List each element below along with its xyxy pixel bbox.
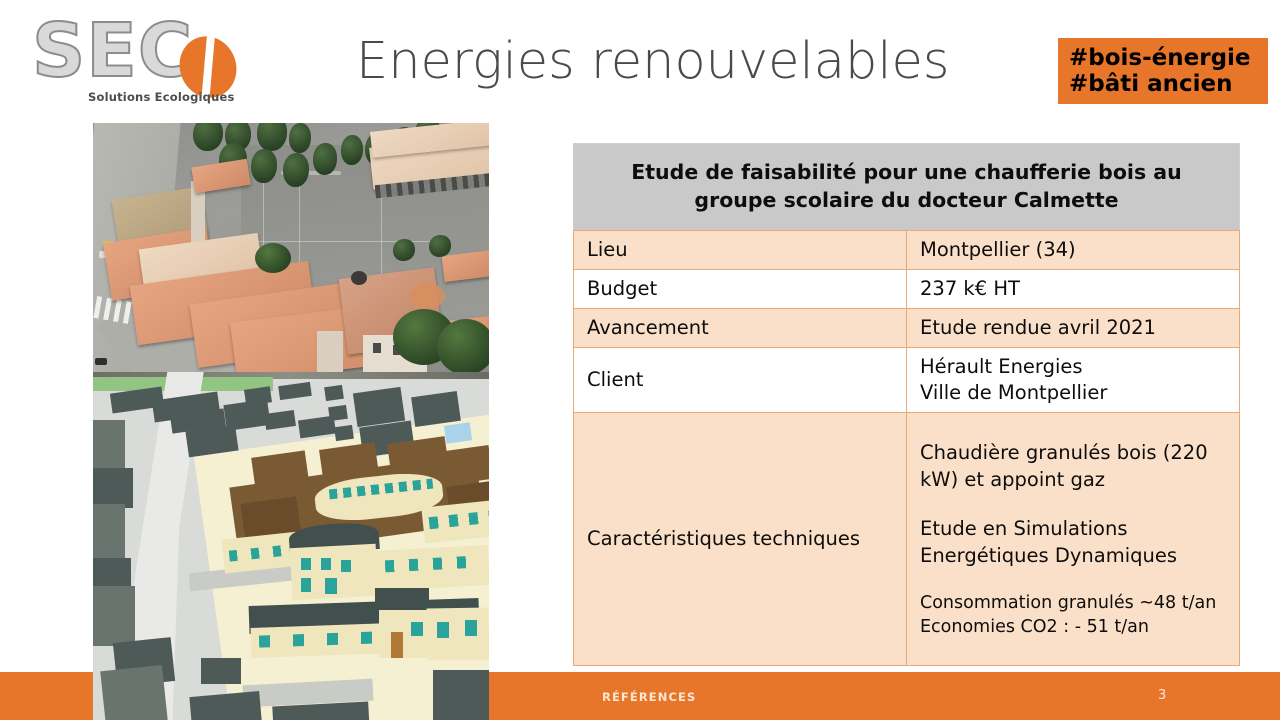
model-door <box>391 632 403 658</box>
model-neighbour-building <box>411 391 461 427</box>
logo-tagline: Solutions Ecologiques <box>88 90 235 104</box>
hashtag-badge: #bois-énergie #bâti ancien <box>1058 38 1268 104</box>
aerial-building-wall <box>317 331 343 372</box>
table-row: Caractéristiques techniques Chaudière gr… <box>574 413 1240 666</box>
row-label-lieu: Lieu <box>574 231 907 270</box>
project-info-table: Etude de faisabilité pour une chaufferie… <box>573 143 1240 666</box>
model-window <box>321 558 331 570</box>
footer-section-label: RÉFÉRENCES <box>602 690 696 704</box>
caracteristique-block-2: Etude en Simulations Energétiques Dynami… <box>920 515 1233 569</box>
table-header-row: Etude de faisabilité pour une chaufferie… <box>574 144 1240 231</box>
model-window <box>341 560 351 572</box>
aerial-tree <box>251 149 277 183</box>
metric-consommation: Consommation granulés ~48 t/an <box>920 591 1233 615</box>
model-school-facade <box>427 607 489 660</box>
page-number: 3 <box>1158 688 1166 703</box>
table-row: Client Hérault Energies Ville de Montpel… <box>574 348 1240 413</box>
row-value-avancement: Etude rendue avril 2021 <box>907 309 1240 348</box>
model-neighbour-building <box>353 387 405 427</box>
seco-logo: SEC Solutions Ecologiques <box>32 16 248 108</box>
courtyard-object <box>351 271 367 285</box>
row-value-client: Hérault Energies Ville de Montpellier <box>907 348 1240 413</box>
page-title: Energies renouvelables <box>356 33 976 91</box>
table-row: Avancement Etude rendue avril 2021 <box>574 309 1240 348</box>
model-pool <box>444 422 472 443</box>
row-label-client: Client <box>574 348 907 413</box>
hashtag-line-1: #bois-énergie <box>1069 45 1268 71</box>
aerial-building-roof <box>442 250 489 282</box>
table-row: Budget 237 k€ HT <box>574 270 1240 309</box>
model-window <box>465 620 477 636</box>
aerial-tree <box>283 153 309 187</box>
aerial-tree <box>255 243 291 273</box>
logo-letters: SEC <box>32 12 193 90</box>
table-row: Lieu Montpellier (34) <box>574 231 1240 270</box>
aerial-tree <box>393 239 415 261</box>
model-neighbour-building <box>189 691 262 720</box>
client-line-1: Hérault Energies <box>920 354 1239 380</box>
model-window <box>301 578 311 592</box>
caracteristique-block-1: Chaudière granulés bois (220 kW) et appo… <box>920 439 1233 493</box>
model-neighbour-building <box>201 658 241 684</box>
row-label-avancement: Avancement <box>574 309 907 348</box>
row-value-budget: 237 k€ HT <box>907 270 1240 309</box>
model-school-roof <box>443 445 489 485</box>
courtyard-circle <box>409 283 445 309</box>
aerial-tree <box>341 135 363 165</box>
caracteristique-metrics: Consommation granulés ~48 t/an Economies… <box>920 591 1233 639</box>
row-value-caracteristiques: Chaudière granulés bois (220 kW) et appo… <box>907 413 1240 666</box>
aerial-tree <box>429 235 451 257</box>
model-neighbour-building <box>93 468 133 508</box>
model-window <box>301 558 311 570</box>
model-neighbour-building <box>100 665 168 720</box>
model-window <box>325 578 337 594</box>
hashtag-line-2: #bâti ancien <box>1069 71 1268 97</box>
model-neighbour-building <box>93 504 125 560</box>
model-window <box>411 622 423 636</box>
model-neighbour-building <box>433 670 489 720</box>
model-neighbour-building <box>334 425 354 441</box>
aerial-tree <box>313 143 337 175</box>
metric-economies-co2: Economies CO2 : - 51 t/an <box>920 615 1233 639</box>
model-window <box>437 622 449 638</box>
slide-canvas: SEC Solutions Ecologiques Energies renou… <box>0 0 1280 720</box>
aerial-photo-image <box>93 123 489 372</box>
aerial-car <box>95 358 107 365</box>
row-label-budget: Budget <box>574 270 907 309</box>
aerial-tree <box>289 123 311 153</box>
table-header-title: Etude de faisabilité pour une chaufferie… <box>574 144 1240 231</box>
client-line-2: Ville de Montpellier <box>920 380 1239 406</box>
row-value-lieu: Montpellier (34) <box>907 231 1240 270</box>
row-label-caracteristiques: Caractéristiques techniques <box>574 413 907 666</box>
aerial-window <box>373 343 381 353</box>
aerial-tree <box>437 319 489 372</box>
court-line <box>253 241 443 242</box>
model-neighbour-building <box>328 405 348 421</box>
model-neighbour-building <box>324 385 344 401</box>
model-neighbour-building <box>93 586 135 646</box>
model-3d-image <box>93 372 489 720</box>
